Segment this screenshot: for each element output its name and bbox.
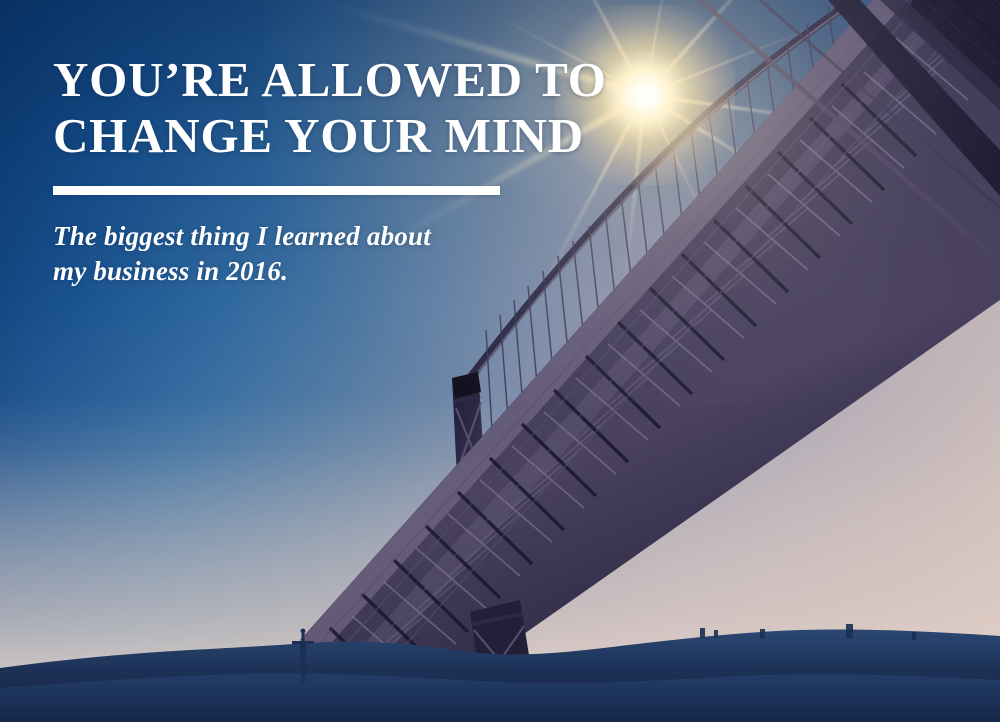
headline-line-1: YOU’RE ALLOWED TO [53,52,523,108]
subtitle: The biggest thing I learned about my bus… [53,219,523,289]
text-overlay: YOU’RE ALLOWED TO CHANGE YOUR MIND The b… [53,52,523,289]
page-title: YOU’RE ALLOWED TO CHANGE YOUR MIND [53,52,523,164]
divider-rule [53,186,500,195]
sky-upper-right-blue [540,0,1000,303]
headline-line-2: CHANGE YOUR MIND [53,108,523,164]
cristo-rei-statue [286,620,320,682]
subtitle-line-2: my business in 2016. [53,254,523,289]
poster-image: YOU’RE ALLOWED TO CHANGE YOUR MIND The b… [0,0,1000,722]
subtitle-line-1: The biggest thing I learned about [53,219,523,254]
horizon-hills [0,602,1000,722]
